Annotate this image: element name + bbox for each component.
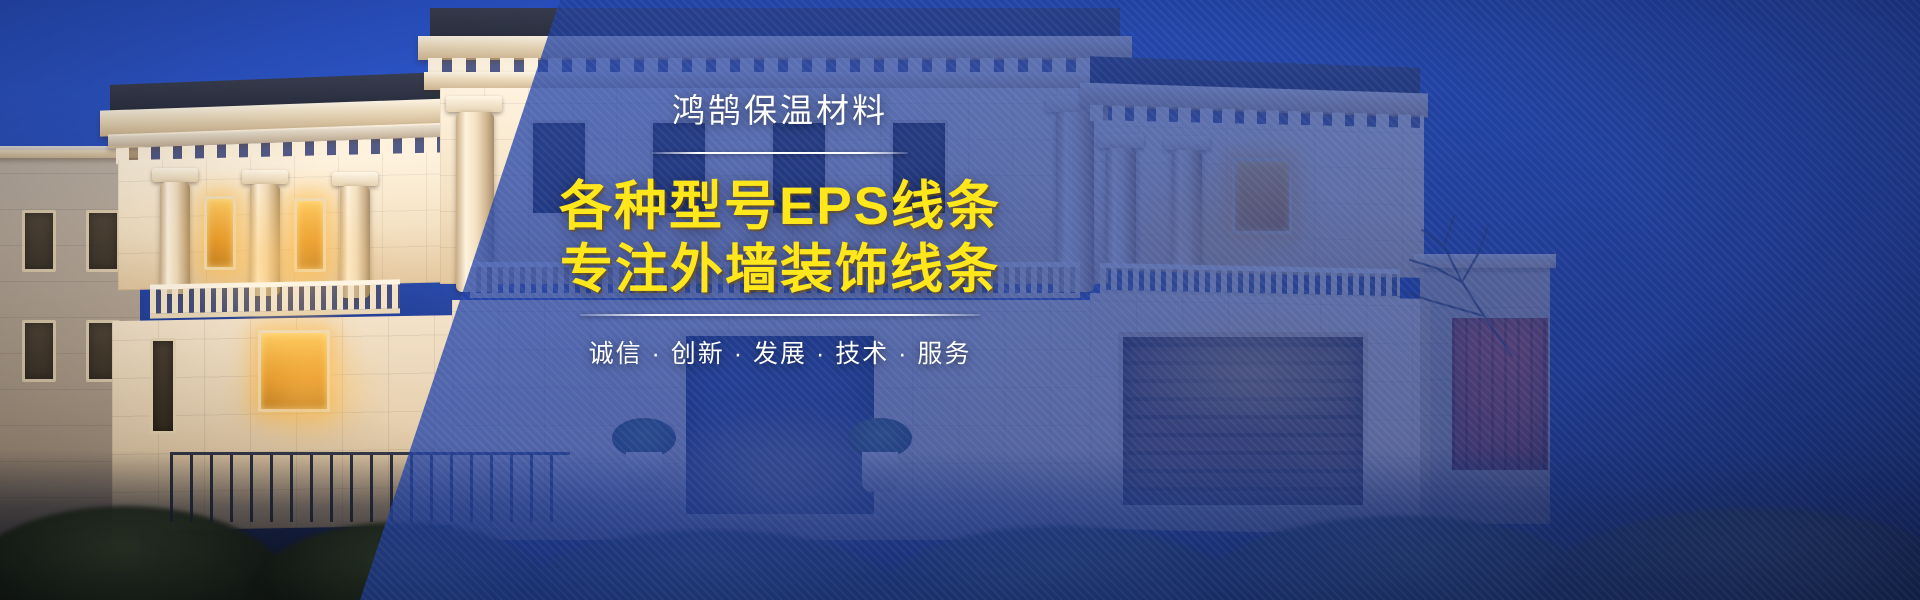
column-capital bbox=[152, 168, 198, 182]
headline-line-1: 各种型号EPS线条 bbox=[559, 177, 1001, 236]
headline: 各种型号EPS线条 专注外墙装饰线条 bbox=[545, 178, 1015, 298]
background-window bbox=[22, 320, 56, 382]
villa-column bbox=[160, 182, 190, 294]
column-capital bbox=[242, 170, 288, 184]
divider-top bbox=[652, 152, 908, 154]
villa-window bbox=[150, 338, 176, 434]
column-capital bbox=[446, 96, 502, 112]
tagline: 诚信 · 创新 · 发展 · 技术 · 服务 bbox=[545, 334, 1015, 370]
background-window bbox=[22, 210, 56, 272]
banner-copy: 鸿鹄保温材料 各种型号EPS线条 专注外墙装饰线条 诚信 · 创新 · 发展 ·… bbox=[545, 92, 1015, 370]
divider-bottom bbox=[580, 314, 980, 316]
hero-banner: 鸿鹄保温材料 各种型号EPS线条 专注外墙装饰线条 诚信 · 创新 · 发展 ·… bbox=[0, 0, 1920, 600]
brand-subtitle: 鸿鹄保温材料 bbox=[545, 92, 1015, 130]
villa-window-lit bbox=[258, 330, 330, 412]
villa-window-lit bbox=[204, 196, 236, 270]
column-capital bbox=[332, 172, 378, 186]
headline-line-2: 专注外墙装饰线条 bbox=[545, 241, 1015, 298]
villa-balustrade-left bbox=[150, 279, 400, 318]
villa-column bbox=[250, 184, 280, 296]
background-window bbox=[86, 210, 120, 272]
villa-window-lit bbox=[294, 198, 326, 272]
